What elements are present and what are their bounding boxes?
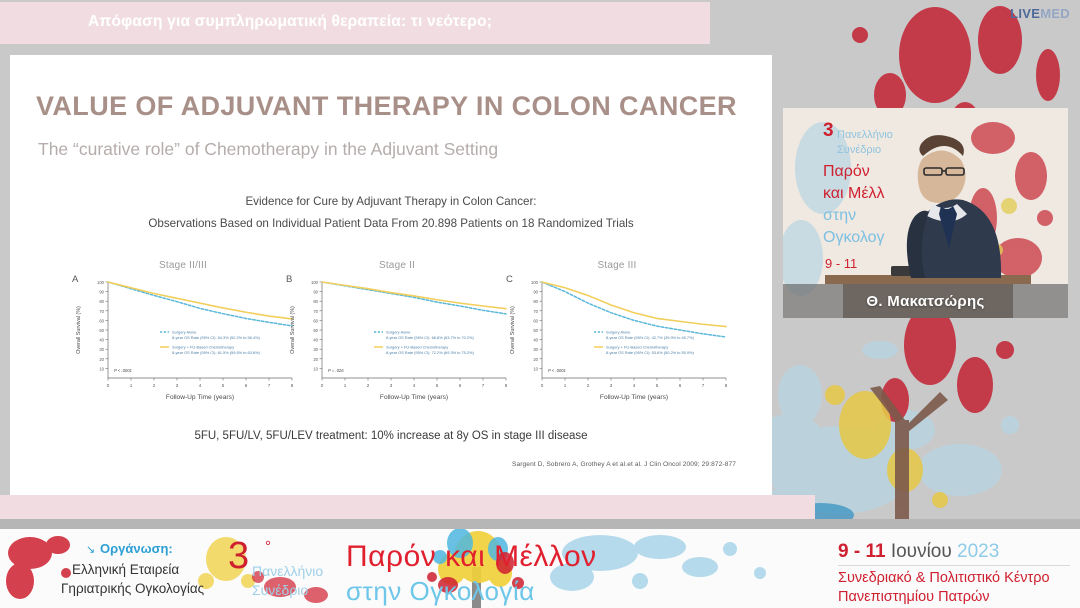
svg-text:P < .0001: P < .0001 (114, 368, 132, 373)
svg-text:4: 4 (633, 383, 636, 388)
svg-text:6: 6 (459, 383, 462, 388)
svg-text:20: 20 (99, 357, 104, 362)
svg-text:και Μέλλ: και Μέλλ (823, 185, 885, 202)
svg-text:0: 0 (107, 383, 110, 388)
svg-text:5: 5 (656, 383, 659, 388)
svg-text:30: 30 (313, 347, 318, 352)
svg-text:3: 3 (176, 383, 179, 388)
svg-text:Surgery Alone: Surgery Alone (606, 330, 630, 335)
svg-text:Surgery + FU-Based Chemotherap: Surgery + FU-Based Chemotherapy (386, 345, 448, 350)
svg-text:90: 90 (533, 290, 538, 295)
svg-text:4: 4 (413, 383, 416, 388)
speaker-video[interactable]: 3 Πανελλήνιο Συνέδριο Παρόν και Μέλλ στη… (783, 108, 1068, 318)
svg-text:3: 3 (610, 383, 613, 388)
svg-text:10: 10 (99, 366, 104, 371)
svg-text:1: 1 (564, 383, 567, 388)
conference-main-title-line1: Παρόν και Μέλλον (346, 540, 597, 574)
svg-text:70: 70 (99, 309, 104, 314)
svg-text:50: 50 (99, 328, 104, 333)
conference-number: 3 (228, 537, 249, 575)
svg-text:100: 100 (531, 280, 539, 285)
svg-text:Overall Survival (%): Overall Survival (%) (510, 306, 516, 354)
evidence-heading-line1: Evidence for Cure by Adjuvant Therapy in… (10, 195, 772, 208)
svg-text:8-year OS Rate (95% CI): 54.3%: 8-year OS Rate (95% CI): 54.3% (52.2% to… (172, 335, 261, 340)
svg-text:Surgery Alone: Surgery Alone (386, 330, 410, 335)
svg-text:60: 60 (313, 318, 318, 323)
slide-summary: 5FU, 5FU/LV, 5FU/LEV treatment: 10% incr… (10, 430, 772, 442)
svg-text:8-year OS Rate (95% CI): 53.6%: 8-year OS Rate (95% CI): 53.6% (50.2% to… (606, 350, 695, 355)
svg-text:3: 3 (390, 383, 393, 388)
svg-text:6: 6 (679, 383, 682, 388)
svg-text:6: 6 (245, 383, 248, 388)
footer-rule (838, 565, 1070, 566)
svg-text:90: 90 (313, 290, 318, 295)
svg-text:7: 7 (268, 383, 271, 388)
gray-divider-bar (0, 519, 1080, 529)
chart-panel-c: Stage III C 1020304050607080901000123456… (502, 260, 732, 415)
svg-text:30: 30 (99, 347, 104, 352)
svg-text:Overall Survival (%): Overall Survival (%) (76, 306, 82, 354)
svg-text:Ογκολογ: Ογκολογ (823, 229, 885, 246)
chart-panel-b: Stage II B 10203040506070809010001234567… (282, 260, 512, 415)
svg-text:60: 60 (99, 318, 104, 323)
slide-title: VALUE OF ADJUVANT THERAPY IN COLON CANCE… (36, 91, 737, 122)
svg-text:2: 2 (153, 383, 156, 388)
panhellenic-line2: Συνέδριο (252, 582, 308, 598)
chart-a-svg: 102030405060708090100012345678Overall Su… (68, 274, 298, 415)
svg-text:7: 7 (482, 383, 485, 388)
svg-text:0: 0 (321, 383, 324, 388)
svg-text:40: 40 (313, 338, 318, 343)
svg-text:Follow-Up Time (years): Follow-Up Time (years) (380, 394, 448, 401)
svg-text:8-year OS Rate (95% CI): 66.8%: 8-year OS Rate (95% CI): 66.8% (63.7% to… (386, 335, 475, 340)
conference-date: 9 - 11 Ιουνίου 2023 (838, 541, 999, 563)
svg-text:40: 40 (99, 338, 104, 343)
conference-venue-line2: Πανεπιστημίου Πατρών (838, 589, 990, 605)
svg-text:2: 2 (367, 383, 370, 388)
speaker-name-band: Θ. Μακατσώρης (783, 284, 1068, 318)
organiser-line2: Γηριατρικής Ογκολογίας (61, 581, 204, 596)
svg-text:4: 4 (199, 383, 202, 388)
svg-text:20: 20 (313, 357, 318, 362)
presentation-slide[interactable]: VALUE OF ADJUVANT THERAPY IN COLON CANCE… (10, 55, 772, 495)
svg-text:στην: στην (823, 207, 856, 224)
organiser-label: Οργάνωση: (100, 541, 173, 556)
chart-c-svg: 102030405060708090100012345678Overall Su… (502, 274, 732, 415)
conference-date-days: 9 - 11 (838, 541, 886, 562)
svg-text:60: 60 (533, 318, 538, 323)
svg-text:40: 40 (533, 338, 538, 343)
svg-text:70: 70 (313, 309, 318, 314)
svg-text:P < .0001: P < .0001 (548, 368, 566, 373)
conference-venue-line1: Συνεδριακό & Πολιτιστικό Κέντρο (838, 570, 1050, 586)
chart-a-stage-label: Stage II/III (68, 260, 298, 271)
svg-text:Πανελλήνιο: Πανελλήνιο (837, 129, 893, 141)
svg-text:9 - 11: 9 - 11 (825, 256, 857, 271)
conference-date-month: Ιουνίου (891, 541, 952, 562)
chart-b-svg: 102030405060708090100012345678Overall Su… (282, 274, 512, 415)
svg-text:8: 8 (725, 383, 728, 388)
svg-text:Follow-Up Time (years): Follow-Up Time (years) (166, 394, 234, 401)
svg-text:50: 50 (313, 328, 318, 333)
svg-text:30: 30 (533, 347, 538, 352)
svg-text:8-year OS Rate (95% CI): 42.7%: 8-year OS Rate (95% CI): 42.7% (39.9% to… (606, 335, 695, 340)
svg-text:90: 90 (99, 290, 104, 295)
slide-citation: Sargent D, Sobrero A, Grothey A et al.et… (512, 461, 736, 468)
svg-text:5: 5 (436, 383, 439, 388)
conference-date-year: 2023 (957, 541, 999, 562)
svg-text:Surgery Alone: Surgery Alone (172, 330, 196, 335)
svg-text:8-year OS Rate (95% CI): 61.5%: 8-year OS Rate (95% CI): 61.5% (59.5% to… (172, 350, 261, 355)
svg-text:3: 3 (823, 120, 834, 141)
svg-text:1: 1 (344, 383, 347, 388)
organiser-line1: Ελληνική Εταιρεία (72, 562, 179, 577)
conference-main-title-line2: στην Ογκολογία (346, 576, 535, 607)
svg-text:7: 7 (702, 383, 705, 388)
svg-text:100: 100 (97, 280, 105, 285)
organiser-arrow-icon: ↘ (86, 543, 95, 556)
svg-text:80: 80 (313, 299, 318, 304)
svg-text:80: 80 (533, 299, 538, 304)
svg-text:20: 20 (533, 357, 538, 362)
svg-text:Overall Survival (%): Overall Survival (%) (290, 306, 296, 354)
svg-text:Παρόν: Παρόν (823, 163, 870, 180)
svg-text:80: 80 (99, 299, 104, 304)
svg-text:0: 0 (541, 383, 544, 388)
chart-panel-a: Stage II/III A 1020304050607080901000123… (68, 260, 298, 415)
svg-text:Συνέδριο: Συνέδριο (837, 144, 881, 156)
slide-subtitle: The “curative role” of Chemotherapy in t… (38, 139, 498, 160)
svg-text:10: 10 (533, 366, 538, 371)
svg-text:P = .026: P = .026 (328, 368, 344, 373)
svg-text:1: 1 (130, 383, 133, 388)
conference-number-degree: ° (265, 538, 271, 555)
svg-text:50: 50 (533, 328, 538, 333)
evidence-heading-line2: Observations Based on Individual Patient… (10, 217, 772, 230)
svg-text:10: 10 (313, 366, 318, 371)
chart-b-stage-label: Stage II (282, 260, 512, 271)
svg-text:Surgery + FU-Based Chemotherap: Surgery + FU-Based Chemotherapy (606, 345, 668, 350)
svg-text:Follow-Up Time (years): Follow-Up Time (years) (600, 394, 668, 401)
conference-footer: ↘ Οργάνωση: Ελληνική Εταιρεία Γηριατρική… (0, 529, 1080, 608)
chart-c-stage-label: Stage III (502, 260, 732, 271)
panhellenic-line1: Πανελλήνιο (252, 563, 323, 579)
svg-text:5: 5 (222, 383, 225, 388)
svg-text:2: 2 (587, 383, 590, 388)
svg-text:8-year OS Rate (95% CI): 72.2%: 8-year OS Rate (95% CI): 72.2% (69.3% to… (386, 350, 475, 355)
svg-text:100: 100 (311, 280, 319, 285)
svg-text:70: 70 (533, 309, 538, 314)
svg-text:Surgery + FU-Based Chemotherap: Surgery + FU-Based Chemotherapy (172, 345, 234, 350)
speaker-name: Θ. Μακατσώρης (866, 293, 984, 310)
